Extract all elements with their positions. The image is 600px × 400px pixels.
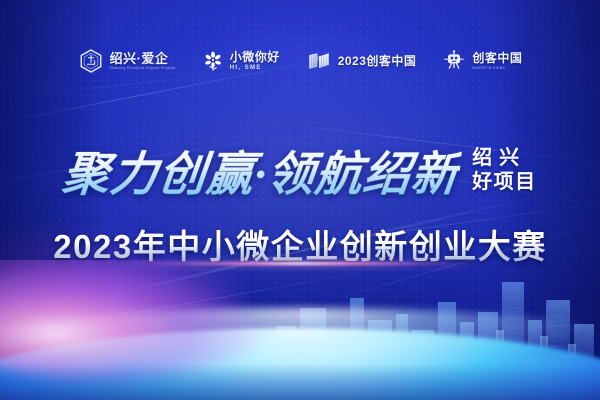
logo-label-en: MAKER IN CHINA <box>472 67 522 70</box>
logo-maker-china-2023: 2023创客中国 <box>306 48 417 74</box>
headline-badge: 绍兴 好项目 <box>472 148 537 192</box>
logo-maker-china: 创客中国 MAKER IN CHINA <box>442 49 522 73</box>
robot-head-icon <box>442 49 466 73</box>
ribbon-fold-icon <box>306 48 332 74</box>
bottom-fade <box>0 364 600 400</box>
headline-badge-line1: 绍兴 <box>472 148 537 168</box>
hexagon-seal-icon <box>78 48 104 74</box>
headline-block: 聚力创赢·领航绍新 绍兴 好项目 <box>0 138 600 200</box>
logo-label-cn: 2023创客中国 <box>338 55 417 67</box>
logo-shaoxing-aiqi: 绍兴·爱企 Shaoxing Enterprise Support Progra… <box>78 48 176 74</box>
partner-logo-bar: 绍兴·爱企 Shaoxing Enterprise Support Progra… <box>0 38 600 84</box>
poster-canvas: 绍兴·爱企 Shaoxing Enterprise Support Progra… <box>0 0 600 400</box>
headline-main: 聚力创赢·领航绍新 <box>60 135 464 204</box>
flower-rosette-icon <box>202 50 224 72</box>
logo-label-cn: 创客中国 <box>472 52 522 64</box>
logo-label-cn: 小微你好 <box>230 51 280 63</box>
logo-hi-sme: 小微你好 HI, SME <box>202 50 280 72</box>
logo-label-en: HI, SME <box>230 65 280 71</box>
logo-label-cn: 绍兴·爱企 <box>110 52 176 65</box>
headline-badge-line2: 好项目 <box>472 172 537 192</box>
logo-label-en: Shaoxing Enterprise Support Program <box>110 67 176 70</box>
city-decoration-layer <box>0 260 600 400</box>
